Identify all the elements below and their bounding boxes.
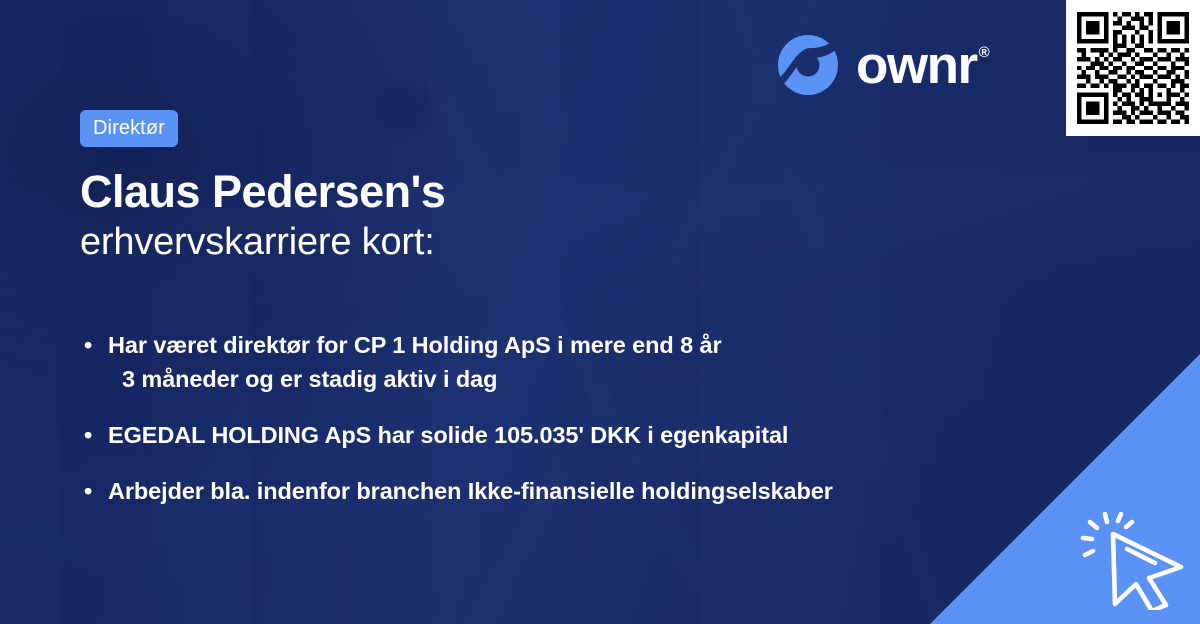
ownr-circle-wave-logo-icon bbox=[775, 32, 841, 98]
list-item-line1: EGEDAL HOLDING ApS har solide 105.035' D… bbox=[108, 422, 788, 448]
qr-code[interactable] bbox=[1077, 12, 1189, 124]
ownr-wordmark: ownr ® bbox=[856, 39, 988, 92]
list-item: EGEDAL HOLDING ApS har solide 105.035' D… bbox=[84, 418, 1044, 452]
page-subtitle: erhvervskarriere kort: bbox=[80, 223, 980, 263]
background-vignette bbox=[0, 0, 1200, 624]
headline-block: Direktør Claus Pedersen's erhvervskarrie… bbox=[80, 110, 980, 263]
role-badge: Direktør bbox=[80, 110, 178, 147]
list-item-line2: 3 måneder og er stadig aktiv i dag bbox=[108, 362, 1044, 396]
click-cursor-icon bbox=[1080, 512, 1188, 610]
promo-card: ownr ® Direktør Claus Pedersen's erhverv… bbox=[0, 0, 1200, 624]
list-item: Har været direktør for CP 1 Holding ApS … bbox=[84, 328, 1044, 396]
ownr-wordmark-text: ownr bbox=[856, 39, 977, 92]
qr-code-panel[interactable] bbox=[1066, 0, 1200, 136]
list-item-line1: Har været direktør for CP 1 Holding ApS … bbox=[108, 332, 722, 358]
list-item: Arbejder bla. indenfor branchen Ikke-fin… bbox=[84, 474, 1044, 508]
ownr-logo[interactable]: ownr ® bbox=[775, 32, 988, 98]
career-facts-list: Har været direktør for CP 1 Holding ApS … bbox=[84, 328, 1044, 508]
list-item-line1: Arbejder bla. indenfor branchen Ikke-fin… bbox=[108, 478, 833, 504]
page-title: Claus Pedersen's bbox=[80, 169, 980, 214]
registered-trademark-symbol: ® bbox=[979, 45, 989, 60]
